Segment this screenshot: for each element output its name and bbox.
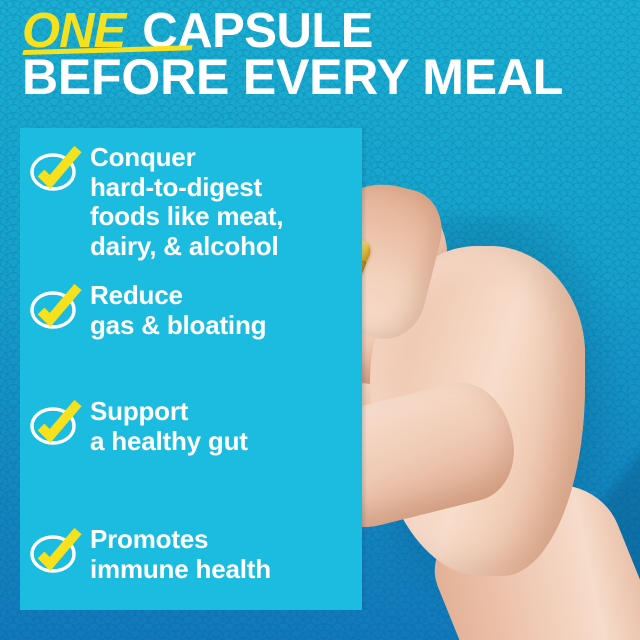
headline-line-1: ONE CAPSULE <box>22 8 632 54</box>
promo-graphic: ONE CAPSULE BEFORE EVERY MEAL Conquer ha… <box>0 0 640 640</box>
benefit-item-3: Support a healthy gut <box>20 396 362 456</box>
check-circle-icon <box>20 280 90 334</box>
headline-line-2: BEFORE EVERY MEAL <box>22 54 632 100</box>
benefit-text: Reduce gas & bloating <box>90 280 266 340</box>
check-circle-icon <box>20 524 90 578</box>
check-circle-icon <box>20 396 90 450</box>
headline: ONE CAPSULE BEFORE EVERY MEAL <box>22 8 632 100</box>
benefit-item-4: Promotes immune health <box>20 524 362 584</box>
benefits-list: Conquer hard-to-digest foods like meat, … <box>20 128 362 610</box>
benefit-text: Conquer hard-to-digest foods like meat, … <box>90 142 283 261</box>
check-circle-icon <box>20 142 90 196</box>
benefit-text: Support a healthy gut <box>90 396 248 456</box>
benefit-item-2: Reduce gas & bloating <box>20 280 362 340</box>
benefit-item-1: Conquer hard-to-digest foods like meat, … <box>20 142 362 261</box>
panel-edge-shadow <box>362 128 367 610</box>
benefit-text: Promotes immune health <box>90 524 271 584</box>
